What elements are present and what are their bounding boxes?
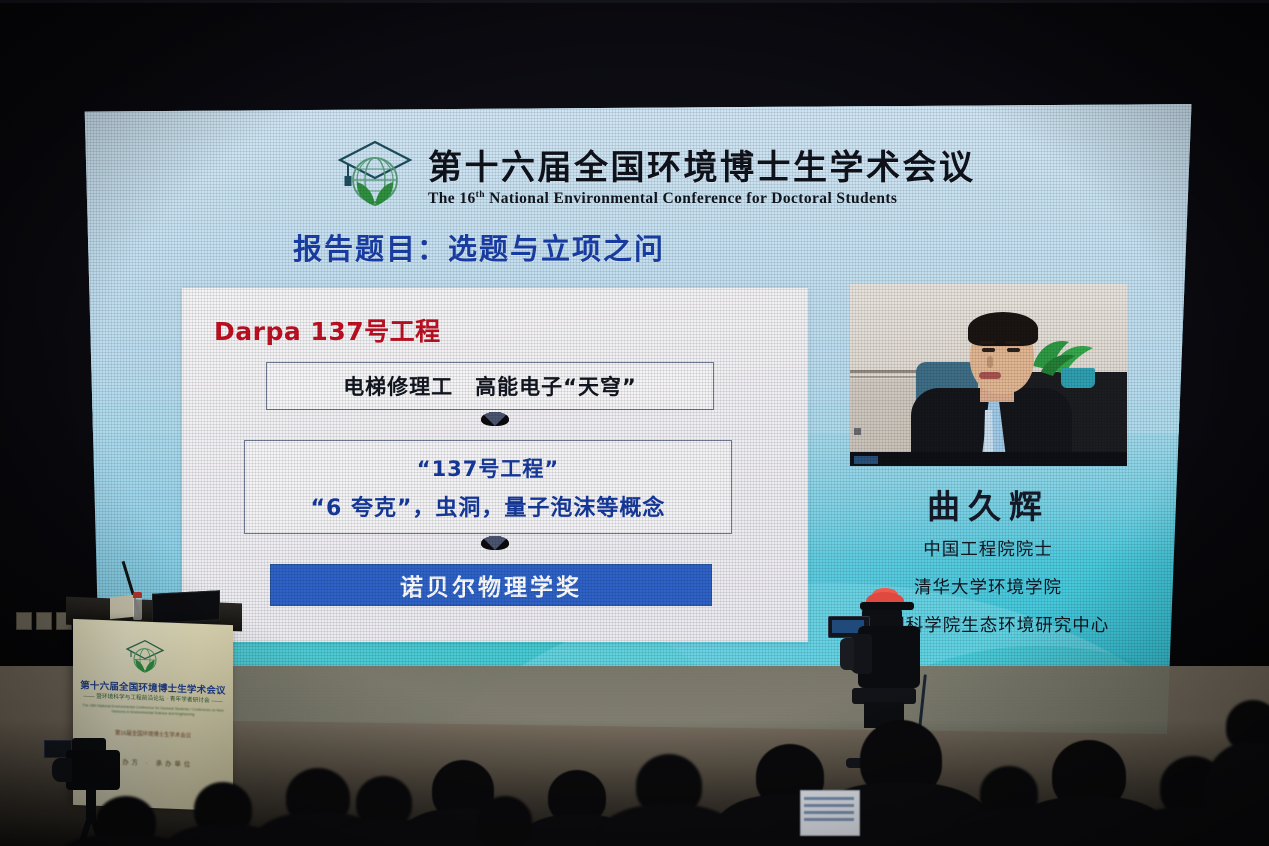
speaker-eyebrow-left [980, 341, 995, 344]
wall-outlet [16, 612, 32, 630]
camera-handle [860, 602, 914, 610]
speaker-eye-left [982, 348, 995, 352]
speaker-eyebrow-right [1005, 341, 1020, 344]
camera-lens [52, 758, 72, 782]
diagram-box-bottom: 诺贝尔物理学奖 [270, 564, 712, 606]
diagram-box-top: 电梯修理工 高能电子“天穹” [266, 362, 714, 410]
speaker-mouth [979, 372, 1001, 379]
graduation-cap-globe-leaf-logo [336, 136, 414, 212]
diagram-box-middle-line1: “137号工程” [417, 453, 559, 483]
arrow-down-icon [481, 536, 509, 548]
conference-title-en-post: National Environmental Conference for Do… [485, 190, 897, 207]
speaker-video-feed [850, 284, 1127, 466]
podium-title-en: The 16th National Environmental Conferen… [79, 703, 227, 719]
water-bottle-cap [133, 592, 142, 598]
diagram-box-middle-line2: “6 夸克”，虫洞，量子泡沫等概念 [311, 490, 666, 522]
conference-title-en-sup: th [476, 190, 485, 200]
graduation-cap-globe-leaf-logo [125, 637, 165, 677]
diagram-box-middle: “137号工程” “6 夸克”，虫洞，量子泡沫等概念 [244, 440, 732, 534]
speaker-hair [968, 312, 1038, 346]
camera-body [66, 750, 120, 790]
video-ui-icon [854, 428, 861, 435]
audience-head [478, 796, 532, 846]
plant-pot [1061, 368, 1095, 388]
report-title: 报告题目：选题与立项之问 [293, 226, 665, 268]
slide-content-panel: Darpa 137号工程 电梯修理工 高能电子“天穹” “137号工程” “6 … [182, 288, 808, 642]
conference-hall-scene: 第十六届全国环境博士生学术会议 The 16th National Enviro… [0, 0, 1269, 846]
diagram-box-top-text: 电梯修理工 高能电子“天穹” [343, 371, 637, 401]
arrow-down-icon [481, 412, 509, 424]
speaker-nose [987, 356, 993, 368]
speaker-affiliation-1: 中国工程院院士 [838, 536, 1138, 561]
speaker-eye-right [1007, 348, 1020, 352]
conference-title-block: 第十六届全国环境博士生学术会议 The 16th National Enviro… [428, 140, 976, 208]
wall-outlet [36, 612, 52, 630]
conference-title-en: The 16th National Environmental Conferen… [428, 190, 976, 208]
darpa-heading: Darpa 137号工程 [214, 312, 441, 348]
laptop-icon [800, 790, 860, 836]
speaker-name: 曲久辉 [850, 480, 1127, 528]
conference-title-cn: 第十六届全国环境博士生学术会议 [428, 140, 976, 189]
led-presentation-screen: 第十六届全国环境博士生学术会议 The 16th National Enviro… [78, 104, 1196, 734]
conference-title-en-pre: The 16 [428, 190, 476, 207]
video-bottom-bar [850, 452, 1127, 466]
podium-laptop [152, 590, 220, 624]
podium-name-card [110, 595, 134, 620]
video-name-tag [854, 456, 878, 464]
diagram-box-bottom-text: 诺贝尔物理学奖 [400, 568, 582, 602]
conference-header: 第十六届全国环境博士生学术会议 The 16th National Enviro… [336, 128, 956, 220]
camera-lens-hood [840, 638, 854, 670]
wall-seam [0, 0, 1269, 3]
water-bottle [133, 596, 142, 620]
